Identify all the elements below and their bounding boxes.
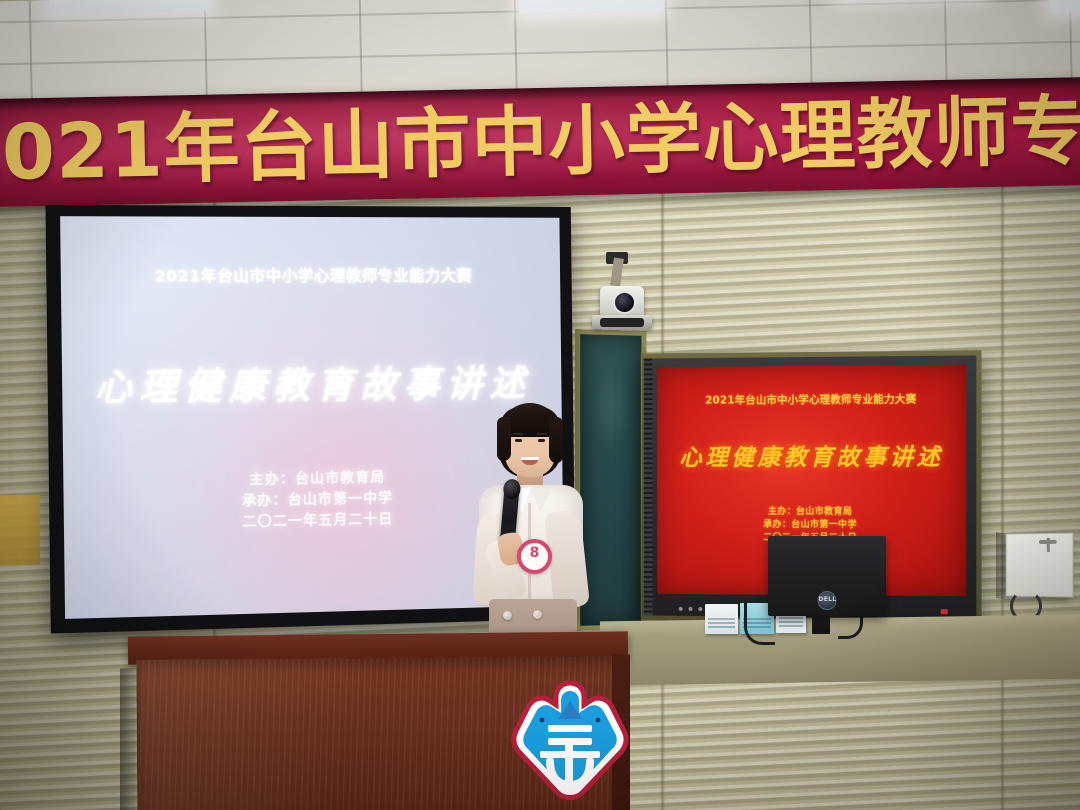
tv-credit-line: 主办：台山市教育局 [657, 506, 966, 520]
eye-left [515, 439, 522, 442]
camera-lens-icon [613, 291, 636, 314]
contestant-number-badge: 8 [517, 539, 552, 574]
podium-sheen [136, 658, 428, 810]
eyebrow-left [513, 433, 523, 435]
tv-power-indicator[interactable] [941, 609, 948, 614]
desk-box-item [705, 604, 738, 634]
slide-subtitle: 2021年台山市中小学心理教师专业能力大赛 [61, 264, 561, 287]
podium-left-shadow [120, 667, 142, 810]
dell-monitor: DELL [768, 536, 886, 616]
tv-credit-line: 承办：台山市第一中学 [657, 519, 966, 533]
tv-slide-subtitle: 2021年台山市中小学心理教师专业能力大赛 [657, 391, 966, 408]
microphone-head [503, 478, 522, 499]
wallbox-knob-icon [1039, 540, 1057, 544]
hair-side-left [497, 417, 511, 461]
auditorium-photo: 2021年台山市中小学心理教师专业技能比 2021年台山市中小学心理教师专业能力… [0, 0, 1080, 810]
event-banner: 2021年台山市中小学心理教师专业技能比 [0, 77, 1080, 207]
wall-accent-strip [0, 494, 40, 565]
eye-right [538, 439, 545, 442]
school-crest-icon [506, 675, 634, 807]
monitor-stand-neck [812, 614, 830, 634]
tv-speaker-grill [644, 358, 653, 615]
dell-logo: DELL [818, 591, 837, 610]
ceiling-light [1048, 0, 1080, 13]
camera-microphone-bar [600, 318, 644, 327]
wall-speaker-box [1006, 532, 1074, 597]
eyebrow-right [537, 433, 547, 435]
speaker-person: 8 [455, 403, 605, 648]
ptz-camera-icon [600, 286, 644, 316]
tv-slide-main-title: 心理健康教育故事讲述 [657, 437, 966, 472]
hair-side-right [549, 417, 563, 463]
